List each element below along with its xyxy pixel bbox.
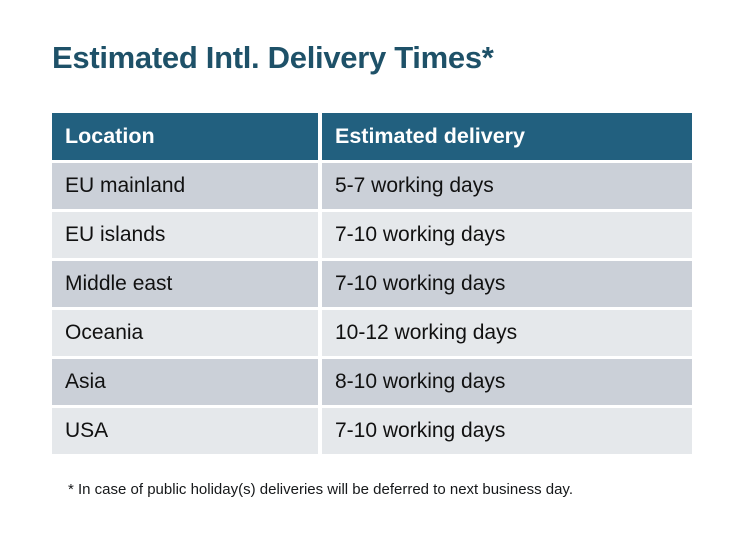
column-header-location: Location [52, 113, 318, 160]
table-row: Oceania 10-12 working days [52, 310, 692, 356]
estimated-delivery-table: Location Estimated delivery EU mainland … [52, 113, 692, 454]
cell-estimated-delivery: 5-7 working days [322, 163, 692, 209]
cell-estimated-delivery: 7-10 working days [322, 212, 692, 258]
page-title: Estimated Intl. Delivery Times* [52, 36, 494, 80]
table-row: EU mainland 5-7 working days [52, 163, 692, 209]
table-header-row: Location Estimated delivery [52, 113, 692, 160]
cell-estimated-delivery: 8-10 working days [322, 359, 692, 405]
table-row: USA 7-10 working days [52, 408, 692, 454]
delivery-times-page: Estimated Intl. Delivery Times* Location… [0, 0, 745, 536]
footnote-text: * In case of public holiday(s) deliverie… [68, 479, 573, 501]
table-row: Asia 8-10 working days [52, 359, 692, 405]
cell-estimated-delivery: 7-10 working days [322, 261, 692, 307]
column-header-estimated-delivery: Estimated delivery [322, 113, 692, 160]
cell-location: Asia [52, 359, 318, 405]
cell-location: EU mainland [52, 163, 318, 209]
table-row: EU islands 7-10 working days [52, 212, 692, 258]
cell-location: Middle east [52, 261, 318, 307]
cell-location: EU islands [52, 212, 318, 258]
cell-estimated-delivery: 10-12 working days [322, 310, 692, 356]
table-row: Middle east 7-10 working days [52, 261, 692, 307]
cell-location: USA [52, 408, 318, 454]
cell-estimated-delivery: 7-10 working days [322, 408, 692, 454]
cell-location: Oceania [52, 310, 318, 356]
